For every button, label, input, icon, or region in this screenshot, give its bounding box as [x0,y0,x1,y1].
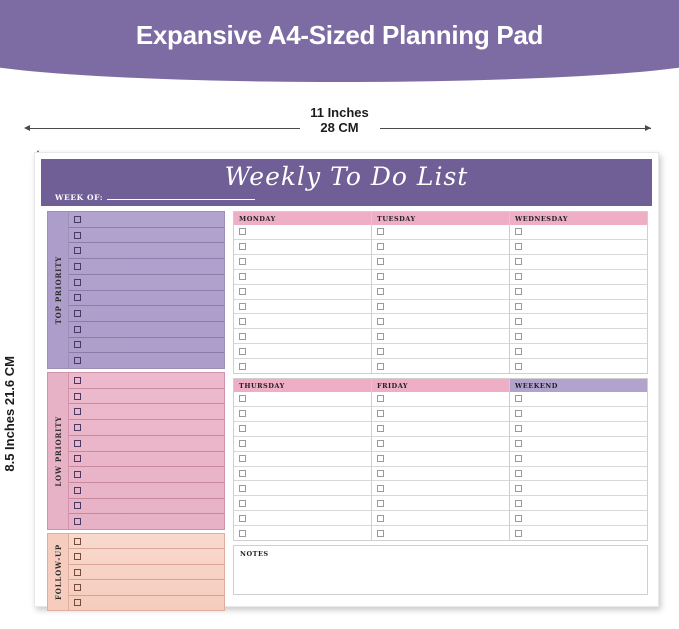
low-priority-rows [69,373,224,529]
table-row[interactable] [234,496,371,511]
list-item[interactable] [69,580,224,595]
checkbox-icon[interactable] [74,471,81,478]
table-row[interactable] [234,225,371,240]
notes-label: NOTES [240,550,647,558]
checkbox-icon[interactable] [239,455,246,462]
checkbox-icon[interactable] [239,258,246,265]
section-low-priority: LOW PRIORITY [47,372,225,530]
checkbox-icon[interactable] [74,502,81,509]
list-item[interactable] [69,596,224,610]
list-item[interactable] [69,291,224,307]
list-item[interactable] [69,499,224,515]
checkbox-icon[interactable] [377,243,384,250]
table-row[interactable] [372,329,509,344]
checkbox-icon[interactable] [515,228,522,235]
table-row[interactable] [510,359,647,373]
table-row[interactable] [234,300,371,315]
table-row[interactable] [372,285,509,300]
day-rows-tuesday [372,225,509,373]
checkbox-icon[interactable] [74,326,81,333]
planner-sheet-inner: Weekly To Do List WEEK OF: TOP PRIORITY [41,159,652,600]
table-row[interactable] [234,422,371,437]
list-item[interactable] [69,467,224,483]
table-row[interactable] [372,452,509,467]
checkbox-icon[interactable] [377,288,384,295]
table-row[interactable] [234,392,371,407]
checkbox-icon[interactable] [515,500,522,507]
list-item[interactable] [69,565,224,580]
day-column-thursday: THURSDAY [234,379,372,540]
checkbox-icon[interactable] [377,500,384,507]
section-follow-up: FOLLOW-UP [47,533,225,611]
checkbox-icon[interactable] [515,318,522,325]
checkbox-icon[interactable] [74,518,81,525]
checkbox-icon[interactable] [239,410,246,417]
checkbox-icon[interactable] [515,410,522,417]
planner-sheet: Weekly To Do List WEEK OF: TOP PRIORITY [34,152,659,607]
checkbox-icon[interactable] [74,294,81,301]
checkbox-icon[interactable] [377,348,384,355]
checkbox-icon[interactable] [239,363,246,370]
table-row[interactable] [510,452,647,467]
checkbox-icon[interactable] [377,470,384,477]
checkbox-icon[interactable] [377,440,384,447]
checkbox-icon[interactable] [74,584,81,591]
checkbox-icon[interactable] [377,485,384,492]
list-item[interactable] [69,483,224,499]
list-item[interactable] [69,389,224,405]
table-row[interactable] [372,526,509,540]
checkbox-icon[interactable] [74,341,81,348]
checkbox-icon[interactable] [515,333,522,340]
checkbox-icon[interactable] [515,348,522,355]
table-row[interactable] [372,467,509,482]
checkbox-icon[interactable] [239,228,246,235]
height-inches-text: 8.5 Inches [2,409,17,472]
checkbox-icon[interactable] [239,530,246,537]
priority-sidebar: TOP PRIORITY [41,206,231,600]
table-row[interactable] [234,467,371,482]
day-rows-friday [372,392,509,540]
checkbox-icon[interactable] [515,425,522,432]
checkbox-icon[interactable] [239,470,246,477]
table-row[interactable] [372,407,509,422]
table-row[interactable] [510,270,647,285]
table-row[interactable] [234,481,371,496]
table-row[interactable] [234,452,371,467]
checkbox-icon[interactable] [377,395,384,402]
follow-up-label-strip: FOLLOW-UP [48,534,69,610]
checkbox-icon[interactable] [515,470,522,477]
checkbox-icon[interactable] [239,500,246,507]
checkbox-icon[interactable] [515,515,522,522]
checkbox-icon[interactable] [377,530,384,537]
arrow-left-icon [24,125,30,131]
checkbox-icon[interactable] [239,273,246,280]
section-top-priority: TOP PRIORITY [47,211,225,369]
day-column-friday: FRIDAY [372,379,510,540]
table-row[interactable] [234,240,371,255]
table-row[interactable] [372,481,509,496]
checkbox-icon[interactable] [74,487,81,494]
checkbox-icon[interactable] [515,395,522,402]
checkbox-icon[interactable] [515,273,522,280]
table-row[interactable] [372,496,509,511]
day-grid: MONDAY [231,206,652,600]
table-row[interactable] [510,392,647,407]
table-row[interactable] [234,511,371,526]
day-rows-weekend [510,392,647,540]
list-item[interactable] [69,338,224,354]
list-item[interactable] [69,353,224,368]
checkbox-icon[interactable] [239,485,246,492]
list-item[interactable] [69,404,224,420]
checkbox-icon[interactable] [377,455,384,462]
checkbox-icon[interactable] [74,424,81,431]
table-row[interactable] [372,255,509,270]
table-row[interactable] [372,359,509,373]
table-row[interactable] [372,270,509,285]
table-row[interactable] [510,255,647,270]
table-row[interactable] [510,407,647,422]
day-section-bottom: THURSDAY [233,378,648,541]
width-rule-left [28,128,300,129]
table-row[interactable] [372,344,509,359]
follow-up-rows [69,534,224,610]
checkbox-icon[interactable] [239,288,246,295]
checkbox-icon[interactable] [377,515,384,522]
table-row[interactable] [372,240,509,255]
table-row[interactable] [234,314,371,329]
list-item[interactable] [69,534,224,549]
checkbox-icon[interactable] [239,348,246,355]
width-rule-right [380,128,651,129]
checkbox-icon[interactable] [377,258,384,265]
list-item[interactable] [69,306,224,322]
table-row[interactable] [510,437,647,452]
checkbox-icon[interactable] [377,425,384,432]
table-row[interactable] [510,481,647,496]
table-row[interactable] [234,437,371,452]
day-column-tuesday: TUESDAY [372,212,510,373]
checkbox-icon[interactable] [377,363,384,370]
checkbox-icon[interactable] [74,357,81,364]
checkbox-icon[interactable] [515,485,522,492]
checkbox-icon[interactable] [515,303,522,310]
list-item[interactable] [69,549,224,564]
day-column-wednesday: WEDNESDAY [510,212,647,373]
day-rows-thursday [234,392,371,540]
checkbox-icon[interactable] [239,333,246,340]
checkbox-icon[interactable] [377,410,384,417]
day-header-friday: FRIDAY [372,379,509,392]
table-row[interactable] [510,344,647,359]
low-priority-label-strip: LOW PRIORITY [48,373,69,529]
week-of-label: WEEK OF: [55,193,103,202]
height-dimension-label: 8.5 Inches 21.6 CM [2,356,18,472]
table-row[interactable] [372,422,509,437]
checkbox-icon[interactable] [74,599,81,606]
checkbox-icon[interactable] [239,303,246,310]
checkbox-icon[interactable] [239,318,246,325]
banner-title: Expansive A4-Sized Planning Pad [0,20,679,51]
checkbox-icon[interactable] [239,395,246,402]
day-header-tuesday: TUESDAY [372,212,509,225]
checkbox-icon[interactable] [377,318,384,325]
checkbox-icon[interactable] [74,393,81,400]
day-rows-monday [234,225,371,373]
checkbox-icon[interactable] [515,440,522,447]
checkbox-icon[interactable] [377,333,384,340]
checkbox-icon[interactable] [515,363,522,370]
week-of-write-line[interactable] [107,199,255,200]
checkbox-icon[interactable] [239,440,246,447]
table-row[interactable] [234,344,371,359]
checkbox-icon[interactable] [515,288,522,295]
checkbox-icon[interactable] [515,243,522,250]
table-row[interactable] [372,314,509,329]
checkbox-icon[interactable] [377,228,384,235]
top-priority-label-strip: TOP PRIORITY [48,212,69,368]
checkbox-icon[interactable] [74,553,81,560]
table-row[interactable] [510,240,647,255]
arrow-right-icon [645,125,651,131]
table-row[interactable] [372,225,509,240]
planner-title: Weekly To Do List [41,162,652,191]
day-header-wednesday: WEDNESDAY [510,212,647,225]
table-row[interactable] [372,300,509,315]
day-column-weekend: WEEKEND [510,379,647,540]
table-row[interactable] [234,285,371,300]
list-item[interactable] [69,452,224,468]
checkbox-icon[interactable] [515,530,522,537]
checkbox-icon[interactable] [377,303,384,310]
checkbox-icon[interactable] [74,455,81,462]
day-column-monday: MONDAY [234,212,372,373]
table-row[interactable] [510,511,647,526]
list-item[interactable] [69,436,224,452]
top-priority-label: TOP PRIORITY [54,256,63,324]
checkbox-icon[interactable] [74,440,81,447]
height-cm-text: 21.6 CM [2,356,17,405]
list-item[interactable] [69,212,224,228]
table-row[interactable] [234,329,371,344]
checkbox-icon[interactable] [377,273,384,280]
checkbox-icon[interactable] [74,310,81,317]
table-row[interactable] [234,255,371,270]
checkbox-icon[interactable] [239,515,246,522]
day-section-top: MONDAY [233,211,648,374]
day-rows-wednesday [510,225,647,373]
list-item[interactable] [69,420,224,436]
checkbox-icon[interactable] [74,263,81,270]
table-row[interactable] [372,511,509,526]
table-row[interactable] [234,526,371,540]
table-row[interactable] [510,285,647,300]
list-item[interactable] [69,259,224,275]
table-row[interactable] [510,329,647,344]
table-row[interactable] [372,392,509,407]
checkbox-icon[interactable] [239,425,246,432]
table-row[interactable] [372,437,509,452]
day-header-thursday: THURSDAY [234,379,371,392]
table-row[interactable] [510,467,647,482]
width-inches-text: 11 Inches [0,105,679,120]
list-item[interactable] [69,322,224,338]
planner-body: TOP PRIORITY [41,206,652,600]
table-row[interactable] [234,270,371,285]
table-row[interactable] [234,407,371,422]
list-item[interactable] [69,373,224,389]
checkbox-icon[interactable] [239,243,246,250]
checkbox-icon[interactable] [74,377,81,384]
checkbox-icon[interactable] [74,279,81,286]
follow-up-label: FOLLOW-UP [54,544,63,600]
table-row[interactable] [510,300,647,315]
checkbox-icon[interactable] [74,247,81,254]
checkbox-icon[interactable] [74,232,81,239]
table-row[interactable] [510,422,647,437]
table-row[interactable] [510,225,647,240]
checkbox-icon[interactable] [515,455,522,462]
checkbox-icon[interactable] [515,258,522,265]
checkbox-icon[interactable] [74,408,81,415]
list-item[interactable] [69,514,224,529]
notes-section[interactable]: NOTES [233,545,648,595]
low-priority-label: LOW PRIORITY [54,416,63,487]
week-of-field[interactable]: WEEK OF: [55,193,255,202]
day-header-monday: MONDAY [234,212,371,225]
table-row[interactable] [510,496,647,511]
list-item[interactable] [69,228,224,244]
checkbox-icon[interactable] [74,569,81,576]
table-row[interactable] [510,526,647,540]
table-row[interactable] [510,314,647,329]
list-item[interactable] [69,275,224,291]
promo-banner: Expansive A4-Sized Planning Pad [0,0,679,82]
checkbox-icon[interactable] [74,538,81,545]
checkbox-icon[interactable] [74,216,81,223]
planner-header: Weekly To Do List WEEK OF: [41,159,652,206]
width-dimension-label: 11 Inches 28 CM [0,105,679,135]
list-item[interactable] [69,243,224,259]
table-row[interactable] [234,359,371,373]
top-priority-rows [69,212,224,368]
day-header-weekend: WEEKEND [510,379,647,392]
